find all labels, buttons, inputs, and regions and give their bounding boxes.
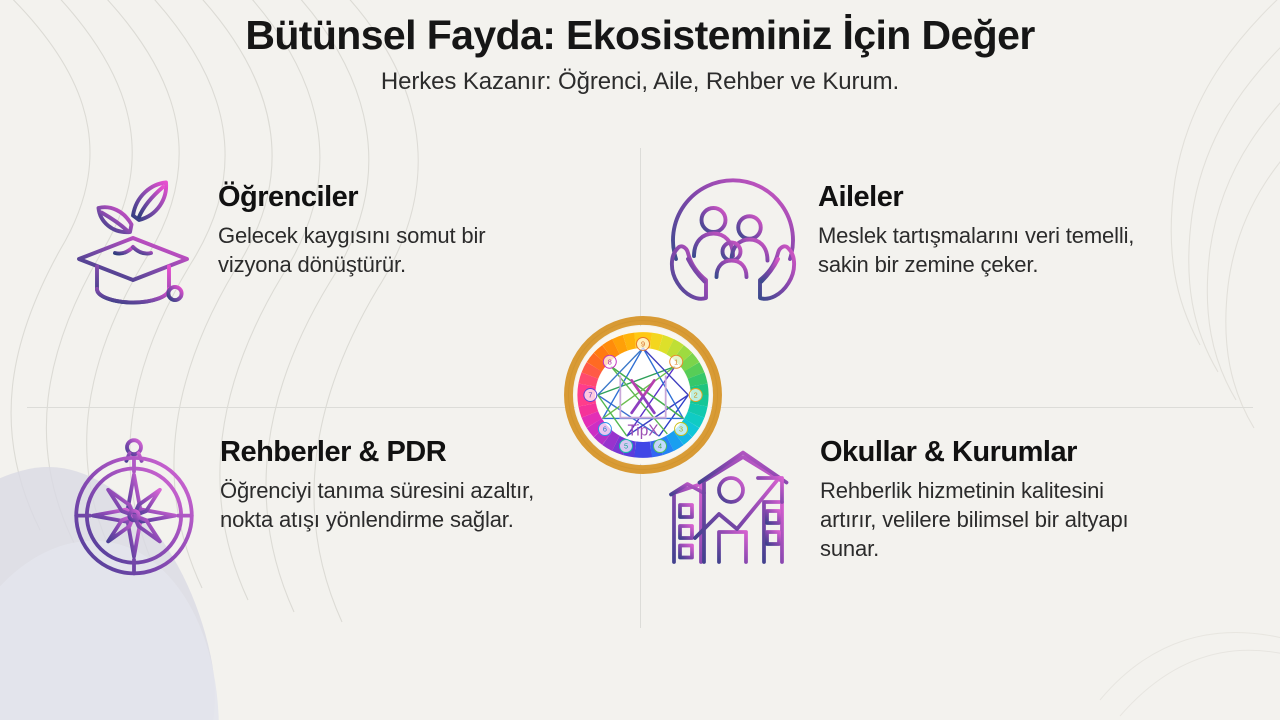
slide-root: Bütünsel Fayda: Ekosisteminiz İçin Değer… [0, 0, 1280, 720]
quadrant-text: Öğrenciler Gelecek kaygısını somut bir v… [218, 166, 606, 279]
quadrant-description: Meslek tartışmalarını veri temelli, saki… [818, 221, 1138, 279]
quadrant-okullar-kurumlar[interactable]: Okullar & Kurumlar Rehberlik hizmetinin … [640, 407, 1280, 664]
quadrant-text: Rehberler & PDR Öğrenciyi tanıma süresin… [220, 429, 606, 534]
header: Bütünsel Fayda: Ekosisteminiz İçin Değer… [0, 0, 1280, 96]
svg-text:1: 1 [674, 357, 678, 366]
quadrant-ogrenciler[interactable]: Öğrenciler Gelecek kaygısını somut bir v… [0, 150, 640, 407]
graduation-cap-sprout-icon [58, 166, 208, 316]
svg-text:4: 4 [658, 442, 662, 451]
quadrant-title: Öğrenciler [218, 182, 606, 214]
quadrant-rehberler-pdr[interactable]: Rehberler & PDR Öğrenciyi tanıma süresin… [0, 407, 640, 664]
svg-text:2: 2 [694, 391, 698, 400]
quadrant-description: Öğrenciyi tanıma süresini azaltır, nokta… [220, 476, 550, 534]
quadrant-description: Rehberlik hizmetinin kalitesini artırır,… [820, 476, 1140, 563]
page-subtitle: Herkes Kazanır: Öğrenci, Aile, Rehber ve… [0, 68, 1280, 96]
quadrant-title: Okullar & Kurumlar [820, 437, 1240, 469]
svg-text:9: 9 [641, 340, 645, 349]
quadrant-description: Gelecek kaygısını somut bir vizyona dönü… [218, 221, 548, 279]
svg-text:7: 7 [588, 391, 592, 400]
quadrant-title: Rehberler & PDR [220, 437, 606, 469]
logo-wordmark: TipX [627, 423, 658, 440]
family-in-hands-icon [658, 166, 808, 316]
quadrant-text: Okullar & Kurumlar Rehberlik hizmetinin … [820, 429, 1240, 563]
page-title: Bütünsel Fayda: Ekosisteminiz İçin Değer [0, 13, 1280, 59]
svg-text:6: 6 [603, 425, 607, 434]
quadrant-title: Aileler [818, 182, 1240, 214]
quadrant-text: Aileler Meslek tartışmalarını veri temel… [818, 166, 1240, 279]
svg-text:3: 3 [679, 425, 683, 434]
svg-text:5: 5 [624, 442, 628, 451]
svg-text:8: 8 [608, 357, 612, 366]
tipx-enneagram-logo[interactable]: TipX 1 2 3 4 5 6 7 8 [562, 312, 724, 478]
quadrant-aileler[interactable]: Aileler Meslek tartışmalarını veri temel… [640, 150, 1280, 407]
compass-icon [58, 429, 210, 587]
